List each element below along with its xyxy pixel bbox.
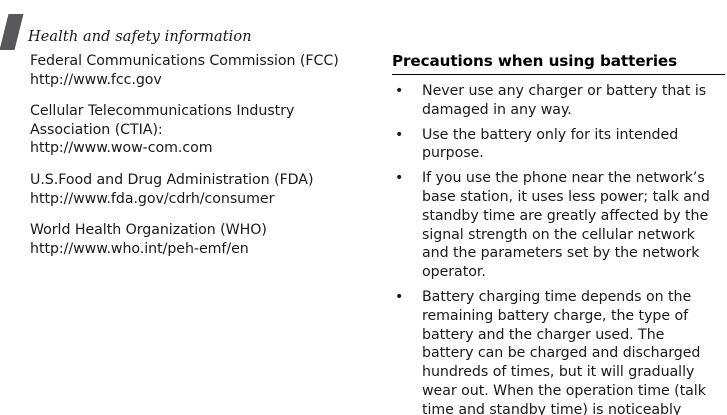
- who-entry: World Health Organization (WHO) http://w…: [30, 221, 360, 258]
- bullet-line: damaged in any way.: [422, 101, 725, 120]
- bullet-charging-time: • Battery charging time depends on the r…: [392, 288, 725, 415]
- bullet-dot-icon: •: [395, 82, 403, 101]
- fcc-entry-url: http://www.fcc.gov: [30, 71, 360, 90]
- manual-page: Health and safety information Federal Co…: [0, 0, 727, 415]
- section-heading: Precautions when using batteries: [392, 52, 725, 74]
- bullet-dot-icon: •: [395, 288, 403, 307]
- bullet-line: battery and the charger used. The: [422, 326, 725, 345]
- bullet-dot-icon: •: [395, 169, 403, 188]
- bullet-line: and the parameters set by the network: [422, 244, 725, 263]
- bullet-line: time and standby time) is noticeably: [422, 401, 725, 415]
- bullet-line: Never use any charger or battery that is: [422, 82, 725, 101]
- slash-bar-icon: [0, 14, 23, 50]
- page-title: Health and safety information: [28, 28, 252, 46]
- heading-divider: [392, 74, 725, 75]
- left-column: Federal Communications Commission (FCC) …: [30, 52, 360, 258]
- bullet-line: standby time are greatly affected by the: [422, 207, 725, 226]
- bullet-line: battery can be charged and discharged: [422, 344, 725, 363]
- precautions-list: • Never use any charger or battery that …: [392, 82, 725, 415]
- ctia-entry-line: Cellular Telecommunications Industry: [30, 102, 360, 121]
- bullet-damaged-charger: • Never use any charger or battery that …: [392, 82, 725, 120]
- fda-entry: U.S.Food and Drug Administration (FDA) h…: [30, 171, 360, 208]
- fcc-entry: Federal Communications Commission (FCC) …: [30, 52, 360, 89]
- bullet-line: If you use the phone near the network’s: [422, 169, 725, 188]
- bullet-line: base station, it uses less power; talk a…: [422, 188, 725, 207]
- bullet-dot-icon: •: [395, 126, 403, 145]
- who-entry-line: World Health Organization (WHO): [30, 221, 360, 240]
- bullet-base-station: • If you use the phone near the network’…: [392, 169, 725, 282]
- ctia-entry: Cellular Telecommunications Industry Ass…: [30, 102, 360, 158]
- who-entry-url: http://www.who.int/peh-emf/en: [30, 240, 360, 259]
- fda-entry-url: http://www.fda.gov/cdrh/consumer: [30, 190, 360, 209]
- bullet-line: hundreds of times, but it will gradually: [422, 363, 725, 382]
- right-column: Precautions when using batteries • Never…: [392, 52, 725, 415]
- bullet-line: purpose.: [422, 144, 725, 163]
- fda-entry-line: U.S.Food and Drug Administration (FDA): [30, 171, 360, 190]
- fcc-entry-line: Federal Communications Commission (FCC): [30, 52, 360, 71]
- ctia-entry-line: Association (CTIA):: [30, 121, 360, 140]
- bullet-line: Use the battery only for its intended: [422, 126, 725, 145]
- bullet-line: Battery charging time depends on the: [422, 288, 725, 307]
- running-header: Health and safety information: [0, 14, 360, 50]
- ctia-entry-url: http://www.wow-com.com: [30, 139, 360, 158]
- bullet-intended-purpose: • Use the battery only for its intended …: [392, 126, 725, 164]
- bullet-line: wear out. When the operation time (talk: [422, 382, 725, 401]
- bullet-line: remaining battery charge, the type of: [422, 307, 725, 326]
- bullet-line: signal strength on the cellular network: [422, 226, 725, 245]
- bullet-line: operator.: [422, 263, 725, 282]
